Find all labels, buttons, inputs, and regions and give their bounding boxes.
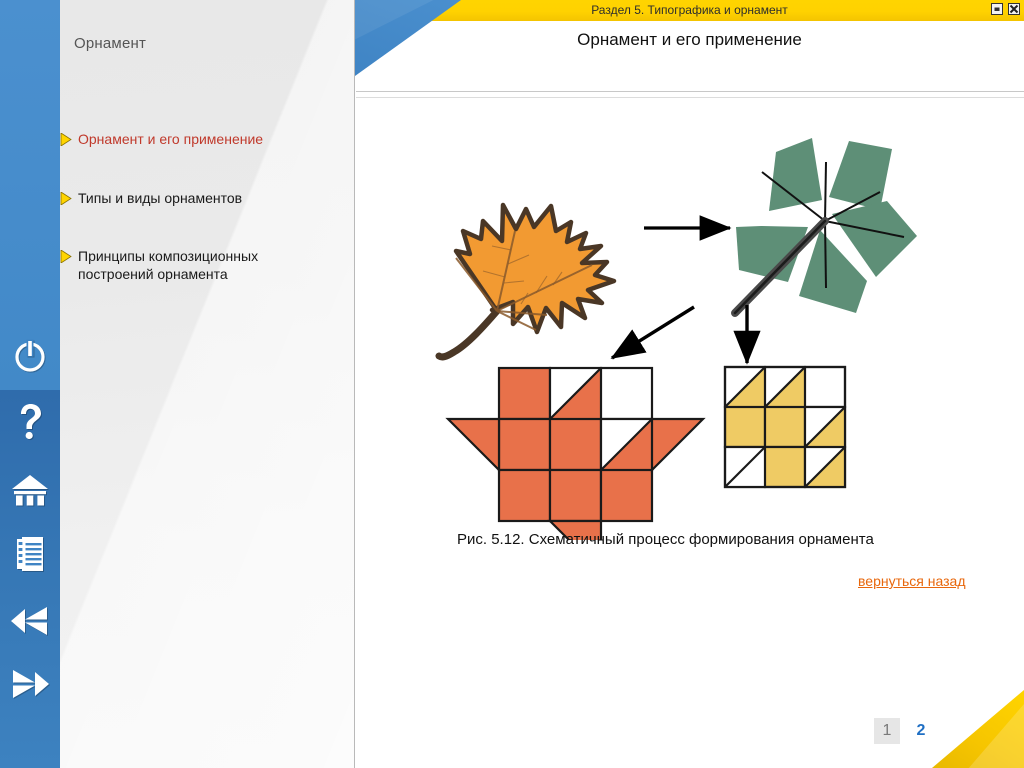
sidebar-title: Орнамент [74,35,146,52]
sidebar-item-label: Типы и виды орнаментов [74,189,242,207]
home-icon[interactable] [6,466,54,514]
sidebar-item-label: Орнамент и его применение [74,130,263,148]
next-arrow-icon[interactable] [6,660,54,708]
contents-icon[interactable] [6,530,54,578]
help-icon[interactable] [6,398,54,446]
triangle-right-icon [60,133,74,151]
ornament-formation-figure [356,100,1024,540]
maple-leaf-illustration [439,205,614,357]
arrow-leaf-to-orange-pattern [612,307,694,358]
triangle-right-icon [60,250,74,268]
header-divider-bottom [356,97,1024,98]
window-controls [990,2,1021,16]
triangle-right-icon [60,192,74,210]
application-window: Орнамент Орнамент и его применение Типы … [0,0,1024,768]
yellow-ornament-pattern [725,367,845,487]
sidebar-table-of-contents: Орнамент Орнамент и его применение Типы … [60,0,355,768]
page-title: Орнамент и его применение [355,30,1024,50]
sidebar-item-principles-of-compositional-construction[interactable]: Принципы композиционных построений орнам… [60,247,355,283]
sidebar-item-types-and-kinds-of-ornaments[interactable]: Типы и виды орнаментов [60,189,355,210]
power-icon[interactable] [6,332,54,380]
page-number-2[interactable]: 2 [908,718,934,744]
close-icon[interactable] [1007,2,1021,16]
pagination: 1 2 [874,718,934,744]
figure-caption: Рис. 5.12. Схематичный процесс формирова… [457,531,874,548]
rail-gradient-bottom [0,390,60,768]
left-icon-rail [0,0,60,768]
sidebar-item-ornament-and-its-application[interactable]: Орнамент и его применение [60,130,355,151]
back-link[interactable]: вернуться назад [858,573,966,589]
orange-ornament-pattern [448,368,703,540]
sidebar-item-label: Принципы композиционных построений орнам… [74,247,318,283]
stylized-green-leaf [735,138,917,313]
header-divider-top [356,91,1024,92]
page-number-1[interactable]: 1 [874,718,900,744]
prev-arrow-icon[interactable] [6,597,54,645]
minimize-icon[interactable] [990,2,1004,16]
